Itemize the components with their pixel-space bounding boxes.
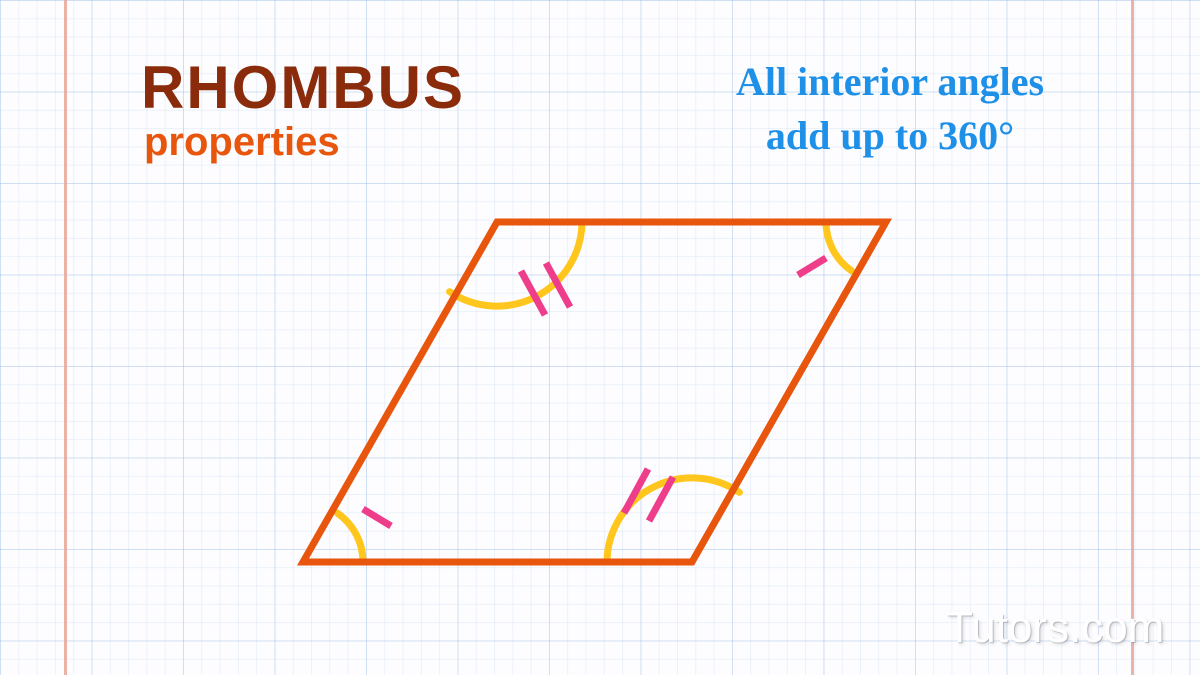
- tick-top-right-1: [798, 258, 826, 275]
- tick-bottom-left-1: [363, 509, 391, 526]
- angle-arcs: [337, 222, 851, 562]
- angle-congruence-ticks: [363, 258, 826, 526]
- angle-arc-top-right: [826, 222, 852, 271]
- site-watermark: Tutors.com: [946, 603, 1164, 653]
- rhombus-diagram: [0, 0, 1200, 675]
- angle-arc-bottom-left: [337, 513, 363, 562]
- worksheet-canvas: RHOMBUS properties All interior angles a…: [0, 0, 1200, 675]
